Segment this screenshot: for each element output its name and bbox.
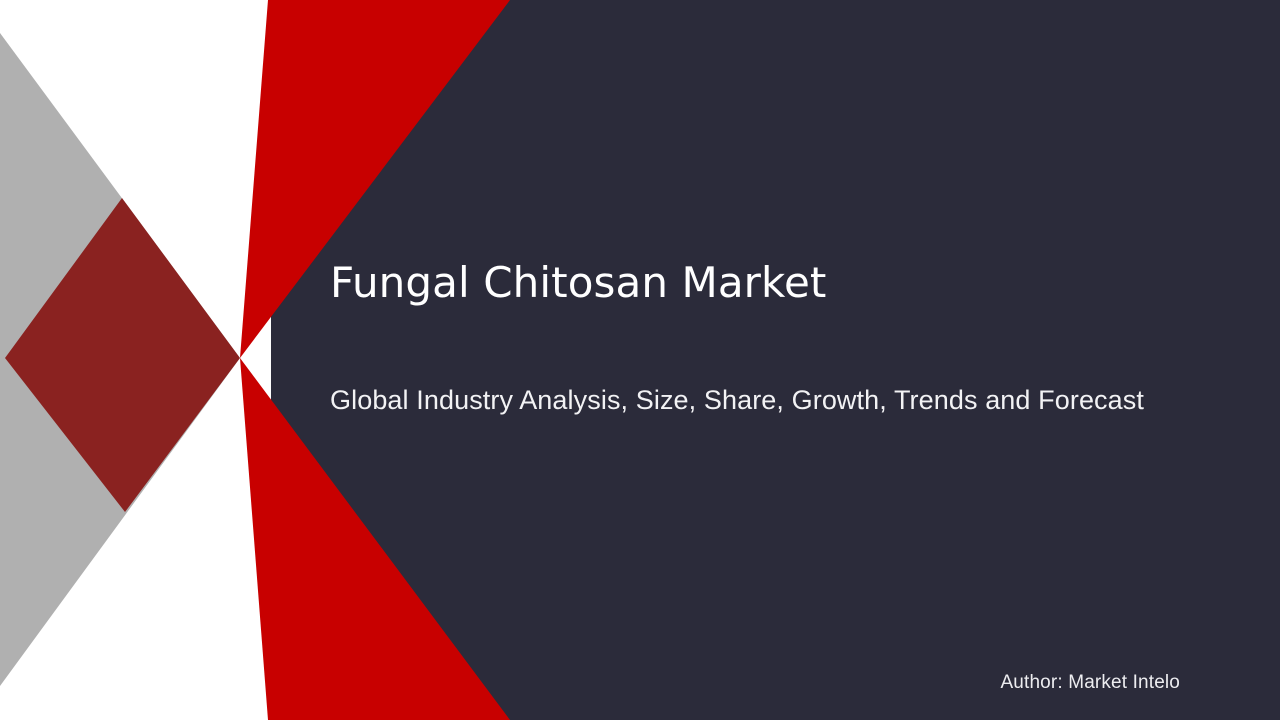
- slide-subtitle: Global Industry Analysis, Size, Share, G…: [330, 384, 1250, 416]
- page-title: Fungal Chitosan Market: [330, 259, 1230, 307]
- title-slide: Fungal Chitosan Market Global Industry A…: [0, 0, 1280, 720]
- author-credit: Author: Market Intelo: [1000, 672, 1180, 695]
- slide-content: Fungal Chitosan Market Global Industry A…: [0, 0, 1280, 720]
